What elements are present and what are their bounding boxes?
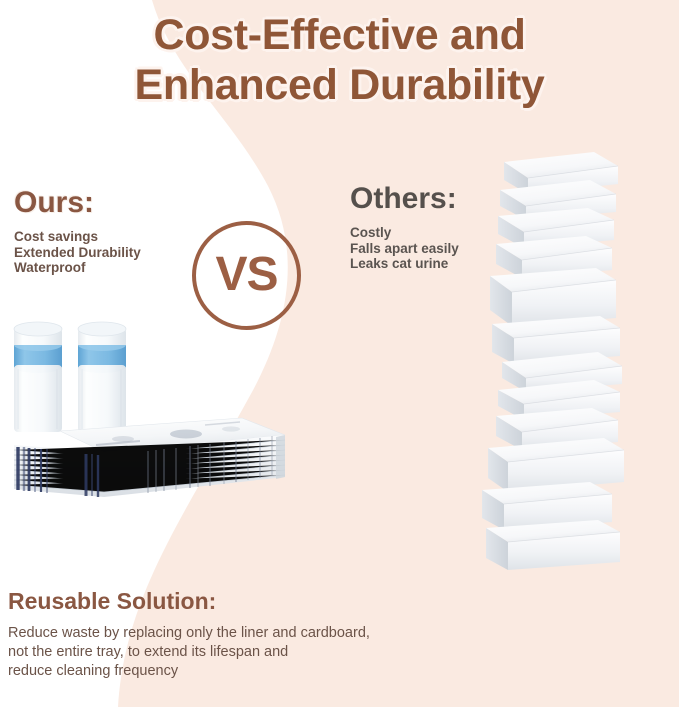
reusable-solution-heading: Reusable Solution: xyxy=(8,588,370,615)
others-product-image xyxy=(478,140,638,588)
list-item: Extended Durability xyxy=(14,245,141,261)
page-title: Cost-Effective and Enhanced Durability xyxy=(0,10,679,110)
ours-product-image xyxy=(0,305,300,515)
ours-heading: Ours: xyxy=(14,186,141,220)
others-drawback-list: Costly Falls apart easily Leaks cat urin… xyxy=(350,225,459,272)
versus-badge: VS xyxy=(192,221,301,330)
reusable-solution-body: Reduce waste by replacing only the liner… xyxy=(8,624,370,681)
list-item: Waterproof xyxy=(14,260,141,276)
list-item: Leaks cat urine xyxy=(350,256,459,272)
liner-roll-right xyxy=(78,322,126,432)
body-line: reduce cleaning frequency xyxy=(8,662,370,681)
others-heading: Others: xyxy=(350,182,459,216)
title-line-1: Cost-Effective and xyxy=(0,10,679,60)
others-section: Others: Costly Falls apart easily Leaks … xyxy=(350,182,459,272)
list-item: Costly xyxy=(350,225,459,241)
ours-section: Ours: Cost savings Extended Durability W… xyxy=(14,186,141,276)
body-line: not the entire tray, to extend its lifes… xyxy=(8,643,370,662)
list-item: Falls apart easily xyxy=(350,241,459,257)
ours-benefit-list: Cost savings Extended Durability Waterpr… xyxy=(14,229,141,276)
infographic-canvas: Cost-Effective and Enhanced Durability O… xyxy=(0,0,679,707)
list-item: Cost savings xyxy=(14,229,141,245)
reusable-solution-section: Reusable Solution: Reduce waste by repla… xyxy=(8,588,370,681)
title-line-2: Enhanced Durability xyxy=(0,60,679,110)
versus-label: VS xyxy=(215,251,277,299)
body-line: Reduce waste by replacing only the liner… xyxy=(8,624,370,643)
box-tower xyxy=(482,152,624,570)
liner-roll-left xyxy=(14,322,62,432)
